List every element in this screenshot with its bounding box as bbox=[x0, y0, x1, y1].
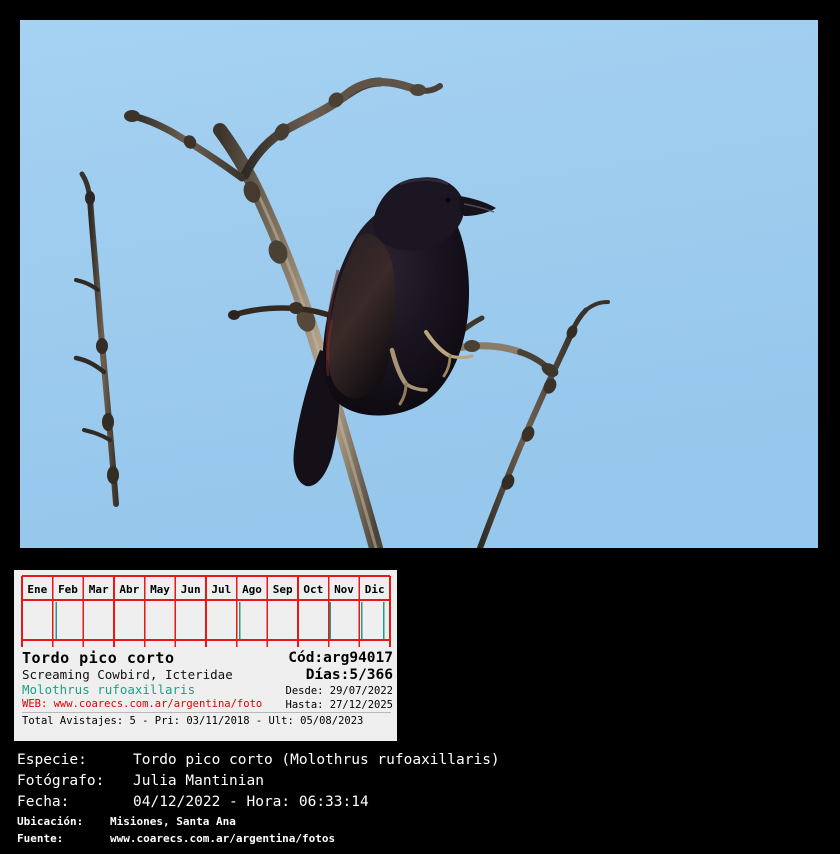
metadata-row: Fecha:04/12/2022 - Hora: 06:33:14 bbox=[17, 792, 823, 813]
photo-canvas bbox=[20, 20, 818, 548]
calendar-month-ago: Ago bbox=[242, 583, 262, 596]
metadata-value: Julia Mantinian bbox=[133, 771, 264, 792]
calendar-month-ene: Ene bbox=[27, 583, 47, 596]
species-totals: Total Avistajes: 5 - Pri: 03/11/2018 - U… bbox=[22, 712, 391, 728]
calendar-month-oct: Oct bbox=[303, 583, 323, 596]
calendar-month-jul: Jul bbox=[211, 583, 231, 596]
species-date-to: Hasta: 27/12/2025 bbox=[243, 698, 393, 712]
metadata-label: Fuente: bbox=[17, 830, 110, 847]
species-card: EneFebMarAbrMayJunJulAgoSepOctNovDic Cód… bbox=[14, 570, 397, 741]
calendar-month-mar: Mar bbox=[89, 583, 109, 596]
calendar-month-jun: Jun bbox=[181, 583, 201, 596]
photograph bbox=[20, 20, 818, 548]
metadata-label: Fecha: bbox=[17, 792, 133, 813]
species-code: Cód:arg94017 bbox=[243, 650, 393, 667]
metadata-row: Ubicación:Misiones, Santa Ana bbox=[17, 813, 823, 830]
metadata-label: Fotógrafo: bbox=[17, 771, 133, 792]
metadata-value: Tordo pico corto (Molothrus rufoaxillari… bbox=[133, 750, 500, 771]
species-card-text: Cód:arg94017 Días:5/366 Desde: 29/07/202… bbox=[14, 648, 397, 741]
month-calendar: EneFebMarAbrMayJunJulAgoSepOctNovDic bbox=[14, 570, 397, 648]
calendar-month-nov: Nov bbox=[334, 583, 354, 596]
species-days: Días:5/366 bbox=[243, 667, 393, 684]
calendar-canvas: EneFebMarAbrMayJunJulAgoSepOctNovDic bbox=[14, 570, 397, 648]
metadata-value: www.coarecs.com.ar/argentina/fotos bbox=[110, 830, 335, 847]
metadata-label: Especie: bbox=[17, 750, 133, 771]
calendar-month-sep: Sep bbox=[273, 583, 293, 596]
metadata-row: Fotógrafo:Julia Mantinian bbox=[17, 771, 823, 792]
metadata-value: Misiones, Santa Ana bbox=[110, 813, 236, 830]
metadata-label: Ubicación: bbox=[17, 813, 110, 830]
metadata-block: Especie:Tordo pico corto (Molothrus rufo… bbox=[17, 750, 823, 847]
metadata-value: 04/12/2022 - Hora: 06:33:14 bbox=[133, 792, 369, 813]
calendar-month-may: May bbox=[150, 583, 170, 596]
species-date-from: Desde: 29/07/2022 bbox=[243, 684, 393, 698]
calendar-month-feb: Feb bbox=[58, 583, 78, 596]
calendar-month-abr: Abr bbox=[119, 583, 139, 596]
metadata-row: Fuente:www.coarecs.com.ar/argentina/foto… bbox=[17, 830, 823, 847]
species-stats: Cód:arg94017 Días:5/366 Desde: 29/07/202… bbox=[243, 650, 393, 712]
metadata-row: Especie:Tordo pico corto (Molothrus rufo… bbox=[17, 750, 823, 771]
calendar-month-dic: Dic bbox=[365, 583, 385, 596]
